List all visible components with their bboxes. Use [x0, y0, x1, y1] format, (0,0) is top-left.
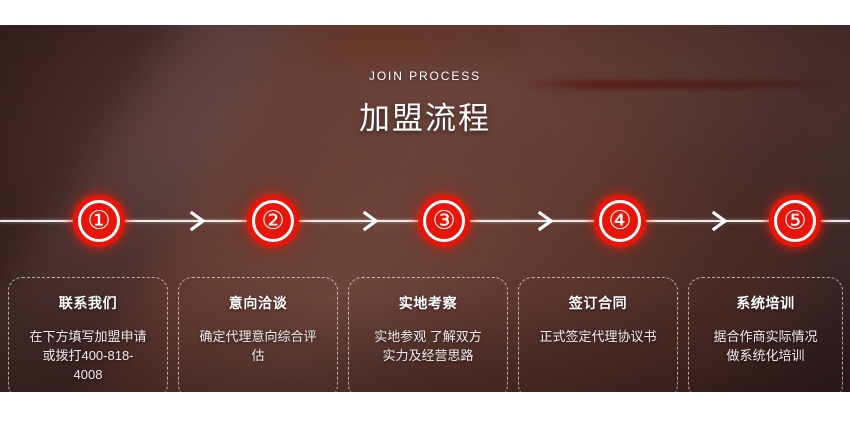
process-card-2[interactable]: 意向洽谈 确定代理意向综合评估	[178, 277, 338, 392]
process-card-5[interactable]: 系统培训 据合作商实际情况 做系统化培训	[688, 277, 843, 392]
step-circle-1[interactable]: ①	[73, 195, 125, 247]
page-root: JOIN PROCESS 加盟流程 ① ② ③ ④ ⑤	[0, 0, 850, 425]
step-circle-2[interactable]: ②	[247, 195, 299, 247]
card-title-2: 意向洽谈	[179, 293, 337, 313]
process-card-3[interactable]: 实地考察 实地参观 了解双方实力及经营思路	[348, 277, 508, 392]
card-title-4: 签订合同	[519, 293, 677, 313]
step-number-1: ①	[87, 208, 110, 234]
process-step-track: ① ② ③ ④ ⑤	[0, 195, 850, 247]
step-number-2: ②	[261, 208, 284, 234]
page-title: 加盟流程	[0, 93, 850, 138]
card-description-2: 确定代理意向综合评估	[179, 327, 337, 365]
process-card-1[interactable]: 联系我们 在下方填写加盟申请或拨打400-818-4008	[8, 277, 168, 392]
arrow-right-icon-4	[706, 208, 732, 234]
card-description-1: 在下方填写加盟申请或拨打400-818-4008	[9, 327, 167, 384]
step-circle-4[interactable]: ④	[594, 195, 646, 247]
arrow-right-icon-1	[184, 208, 210, 234]
card-title-3: 实地考察	[349, 293, 507, 313]
hero-banner: JOIN PROCESS 加盟流程 ① ② ③ ④ ⑤	[0, 25, 850, 392]
step-number-5: ⑤	[783, 208, 806, 234]
step-number-4: ④	[608, 208, 631, 234]
step-number-3: ③	[432, 208, 455, 234]
process-card-4[interactable]: 签订合同 正式签定代理协议书	[518, 277, 678, 392]
card-title-1: 联系我们	[9, 293, 167, 313]
process-cards: 联系我们 在下方填写加盟申请或拨打400-818-4008 意向洽谈 确定代理意…	[0, 277, 850, 392]
arrow-right-icon-2	[357, 208, 383, 234]
step-circle-5[interactable]: ⑤	[769, 195, 821, 247]
card-description-4: 正式签定代理协议书	[519, 327, 677, 346]
card-description-3: 实地参观 了解双方实力及经营思路	[349, 327, 507, 365]
card-title-5: 系统培训	[689, 293, 842, 313]
section-eyebrow: JOIN PROCESS	[0, 69, 850, 83]
card-description-5: 据合作商实际情况 做系统化培训	[689, 327, 842, 365]
step-circle-3[interactable]: ③	[418, 195, 470, 247]
arrow-right-icon-3	[532, 208, 558, 234]
